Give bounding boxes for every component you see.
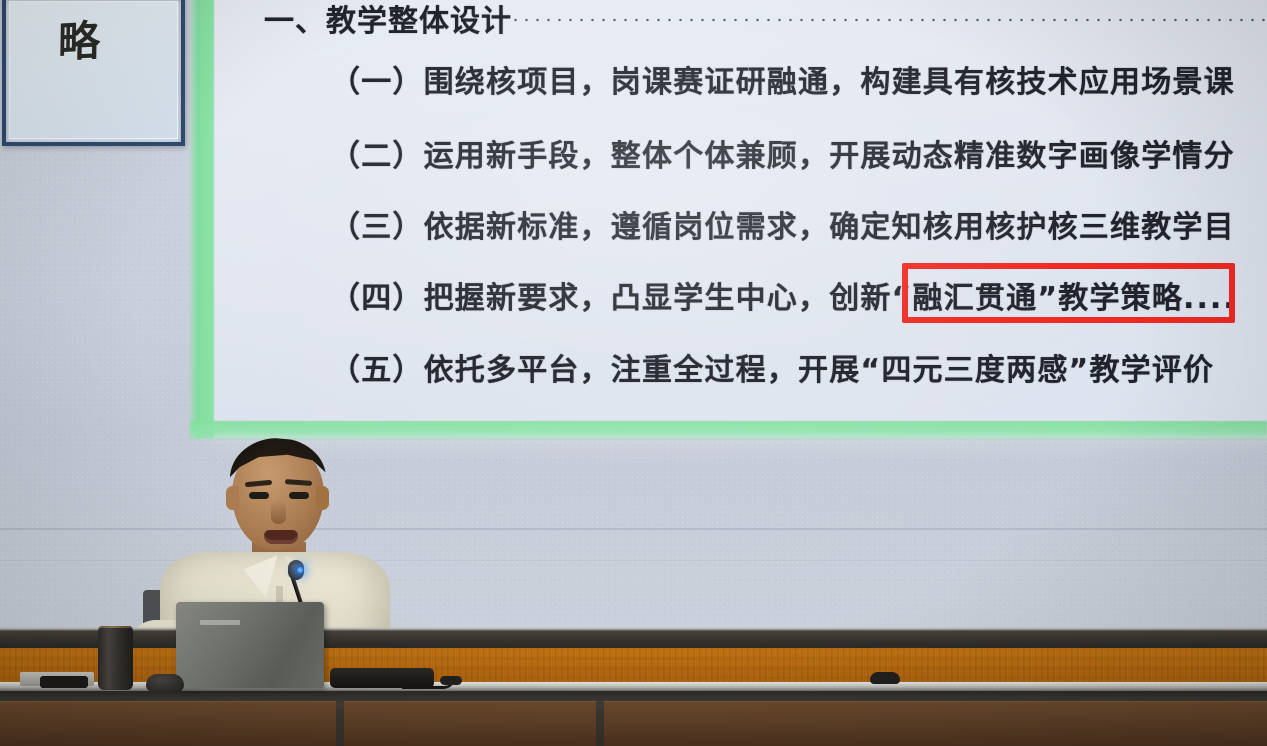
desk-wood-panel [0, 701, 336, 746]
speaker-eye-right [289, 492, 309, 499]
desk-small-object [440, 676, 462, 685]
slide-item-1: （一）围绕核项目，岗课赛证研融通，构建具有核技术应用场景课 [330, 57, 1235, 101]
slide-item-5: （五）依托多平台，注重全过程，开展“四元三度两感”教学评价 [330, 345, 1214, 389]
slide-heading: 一、教学整体设计 [264, 0, 512, 40]
speaker-eye-left [249, 492, 269, 499]
document-dark-object [40, 676, 88, 688]
desk-wood-panel [604, 701, 1267, 746]
wall-seam [0, 528, 1267, 530]
slide-content: 一、教学整体设计 （一）围绕核项目，岗课赛证研融通，构建具有核技术应用场景课 （… [212, 0, 1267, 438]
speaker-nose [271, 500, 286, 524]
laptop-logo [200, 620, 240, 625]
slide-item-3-text: 依据新标准，遵循岗位需求，确定知核用核护核三维教学目 [424, 210, 1235, 245]
slide-item-5-text: 依托多平台，注重全过程，开展“四元三度两感”教学评价 [424, 353, 1215, 388]
speaker-ear-left [226, 486, 239, 510]
computer-mouse [146, 674, 184, 692]
slide-item-5-marker: （五） [330, 353, 424, 388]
wall-plaque-frame: 略 [2, 0, 185, 146]
red-highlight-box [902, 263, 1235, 323]
plaque-character: 略 [57, 7, 100, 70]
slide-item-2-text: 运用新手段，整体个体兼顾，开展动态精准数字画像学情分 [424, 139, 1235, 174]
slide-green-border-left [190, 0, 214, 438]
slide-item-2-marker: （二） [330, 139, 424, 174]
heading-dotted-leader [510, 18, 1267, 22]
slide-item-1-text: 围绕核项目，岗课赛证研融通，构建具有核技术应用场景课 [424, 65, 1235, 100]
slide-item-3-marker: （三） [330, 210, 424, 245]
thermos-cup [98, 628, 133, 690]
presentation-photo: 略 一、教学整体设计 （一）围绕核项目，岗课赛证研融通，构建具有核技术应用场景课… [0, 0, 1267, 746]
speaker-mouth [264, 530, 298, 544]
desk-small-object [870, 672, 900, 684]
slide-item-2: （二）运用新手段，整体个体兼顾，开展动态精准数字画像学情分 [330, 131, 1235, 175]
laptop [176, 602, 324, 688]
microphone-led-indicator [296, 566, 304, 574]
slide-item-1-marker: （一） [330, 65, 424, 100]
slide-item-3: （三）依据新标准，遵循岗位需求，确定知核用核护核三维教学目 [330, 202, 1235, 246]
speaker-ear-right [316, 486, 329, 510]
slide-item-4-marker: （四） [330, 281, 424, 316]
desk-wood-panel [344, 701, 596, 746]
